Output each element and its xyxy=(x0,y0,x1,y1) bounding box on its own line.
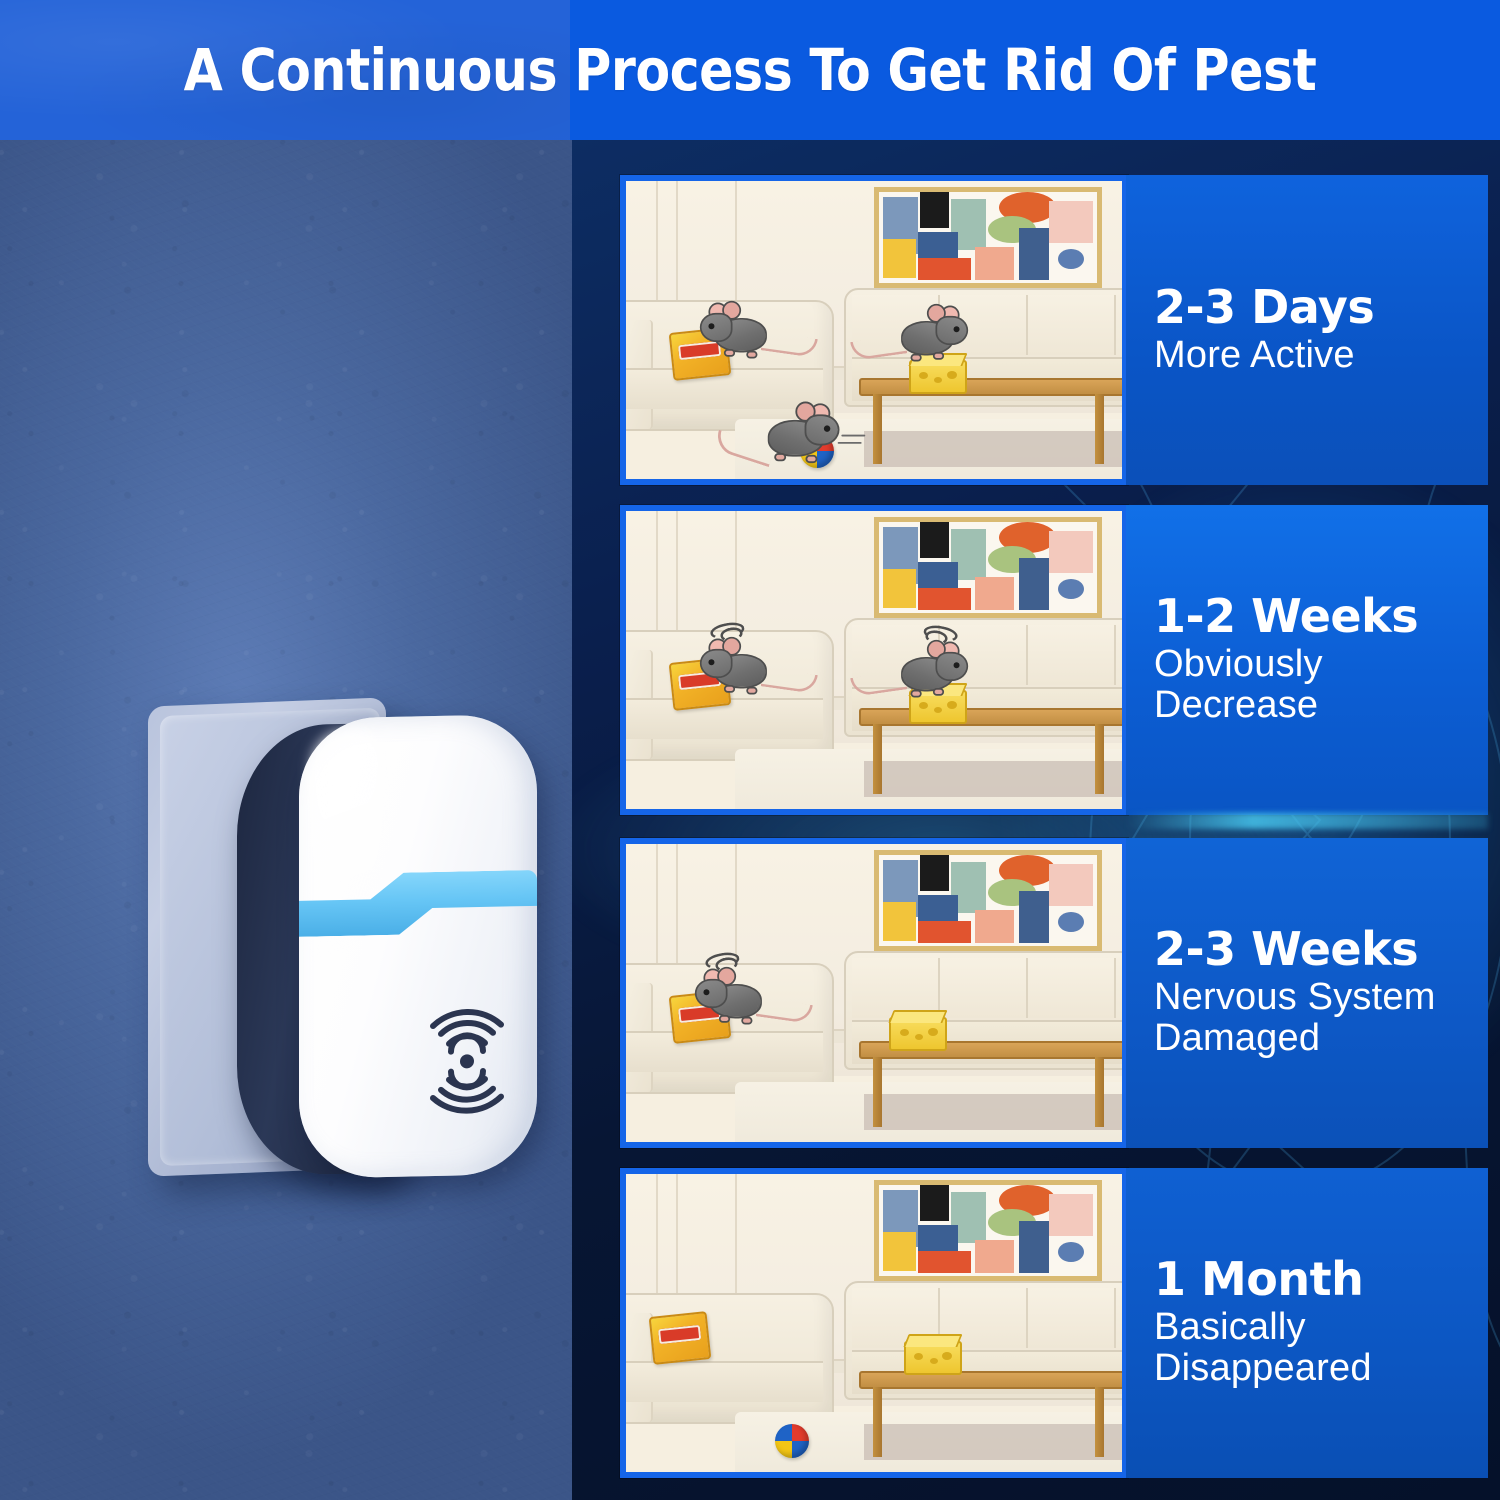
coffee-table xyxy=(859,708,1128,726)
step-effect: Basically Disappeared xyxy=(1154,1307,1474,1391)
step-period: 2-3 Days xyxy=(1154,284,1474,331)
step-period: 2-3 Weeks xyxy=(1154,926,1474,973)
coffee-table xyxy=(859,378,1128,396)
timeline-step[interactable]: 2-3 Weeks Nervous System Damaged xyxy=(620,838,1488,1148)
abstract-painting xyxy=(874,517,1102,618)
abstract-painting xyxy=(874,1180,1102,1281)
step-period: 1-2 Weeks xyxy=(1154,593,1474,640)
step-effect-line2: Damaged xyxy=(1154,1017,1320,1059)
timeline-step[interactable]: 1 Month Basically Disappeared xyxy=(620,1168,1488,1478)
infographic-root: A Continuous Process To Get Rid Of Pest xyxy=(0,0,1500,1500)
step-effect-line1: Nervous System xyxy=(1154,976,1436,1018)
step-caption: 1 Month Basically Disappeared xyxy=(1126,1168,1488,1478)
timeline-steps: 2-3 Days More Active xyxy=(0,0,1500,1500)
timeline-step[interactable]: 1-2 Weeks Obviously Decrease xyxy=(620,505,1488,815)
step-period: 1 Month xyxy=(1154,1256,1474,1303)
step-effect: More Active xyxy=(1154,335,1474,377)
step-scene-photo xyxy=(620,175,1128,485)
step-effect: Nervous System Damaged xyxy=(1154,977,1474,1061)
step-scene-photo xyxy=(620,838,1128,1148)
chip-bag xyxy=(648,1311,711,1365)
cheese-block xyxy=(904,1341,962,1375)
step-effect: Obviously Decrease xyxy=(1154,644,1474,728)
step-caption: 2-3 Days More Active xyxy=(1126,175,1488,485)
step-caption: 1-2 Weeks Obviously Decrease xyxy=(1126,505,1488,815)
step-scene-photo xyxy=(620,505,1128,815)
abstract-painting xyxy=(874,850,1102,951)
cheese-block xyxy=(889,1017,947,1051)
toy-ball xyxy=(775,1424,809,1458)
step-effect-line2: Decrease xyxy=(1154,684,1318,726)
step-caption: 2-3 Weeks Nervous System Damaged xyxy=(1126,838,1488,1148)
step-scene-photo xyxy=(620,1168,1128,1478)
coffee-table xyxy=(859,1371,1128,1389)
step-effect-line1: Basically xyxy=(1154,1306,1306,1348)
step-effect-line2: Disappeared xyxy=(1154,1347,1372,1389)
step-effect-line1: Obviously xyxy=(1154,643,1323,685)
abstract-painting xyxy=(874,187,1102,288)
timeline-step[interactable]: 2-3 Days More Active xyxy=(620,175,1488,485)
cheese-block xyxy=(909,360,967,394)
